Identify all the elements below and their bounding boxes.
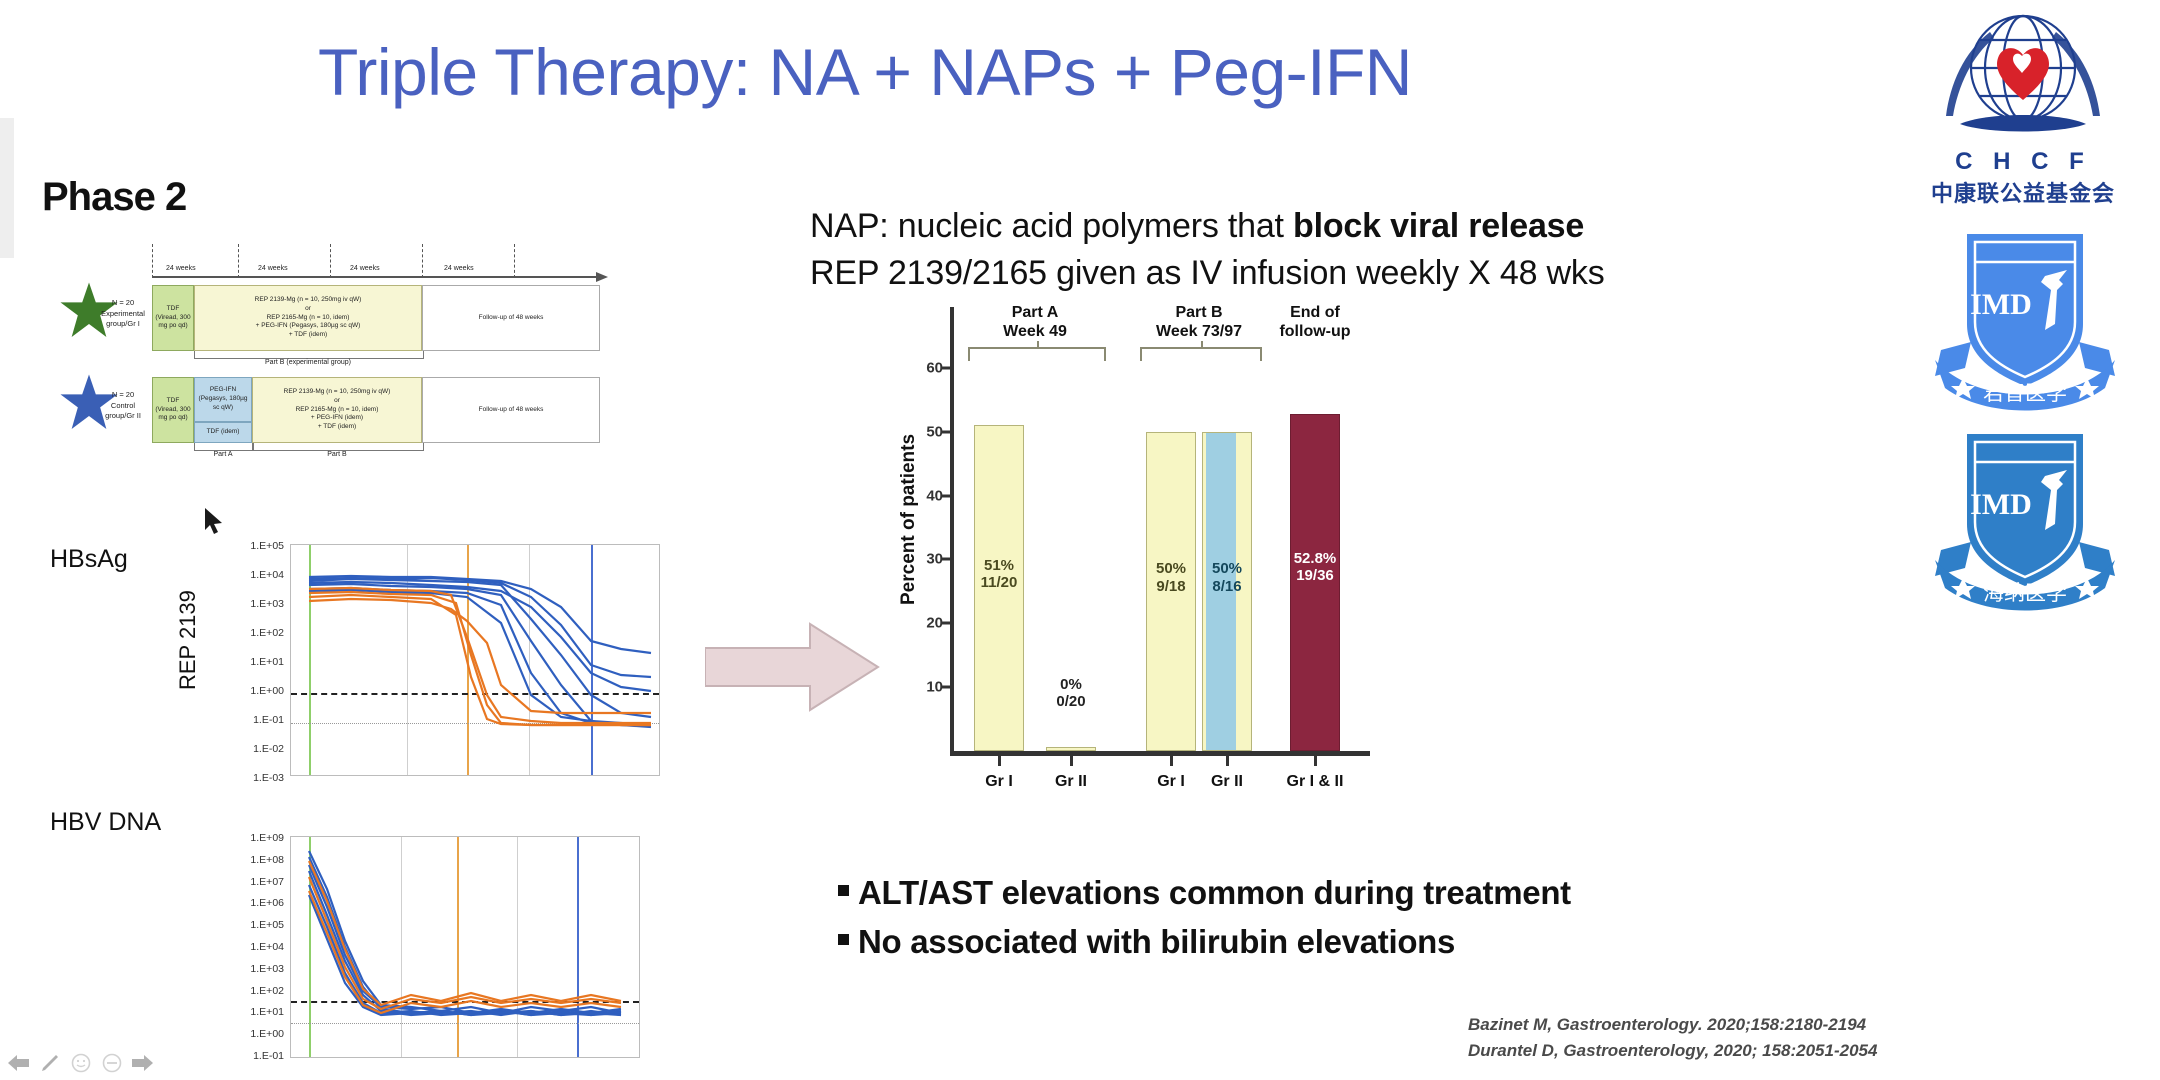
nap-description-line2: REP 2139/2165 given as IV infusion weekl… (810, 252, 1870, 296)
brace-nub (1201, 341, 1203, 349)
bar-xtick-mark (1226, 756, 1229, 766)
phase-label: Phase 2 (42, 175, 186, 220)
bar-xtick-mark (998, 756, 1001, 766)
timeline-tick (238, 244, 239, 278)
bar-4: 52.8%19/36 (1290, 414, 1340, 751)
timeline-tick (152, 244, 153, 278)
hbvdna-ytick: 1.E+03 (200, 964, 284, 975)
group1-label: N = 20 Experimental group/Gr I (94, 298, 152, 330)
bar-label: 50%8/16 (1203, 560, 1251, 595)
bullet-item: ALT/AST elevations common during treatme… (838, 872, 1798, 915)
hbsag-ytick: 1.E+01 (200, 657, 284, 668)
hbvdna-ytick: 1.E+09 (200, 833, 284, 844)
hbsag-ytick: 1.E-01 (200, 715, 284, 726)
page-title: Triple Therapy: NA + NAPs + Peg-IFN (0, 38, 1730, 107)
bar-ytick-mark (941, 430, 950, 433)
timeline-tick (330, 244, 331, 278)
group-caption-line2: Week 73/97 (1140, 322, 1258, 341)
group2-parta-peg-box: PEG-IFN (Pegasys, 180µg sc qW) (194, 377, 252, 422)
bar-fraction-label: 8/16 (1203, 578, 1251, 595)
group-caption-line2: follow-up (1276, 322, 1354, 341)
bar-ytick-mark (941, 622, 950, 625)
hbvdna-ytick: 1.E+02 (200, 986, 284, 997)
hbsag-ytick: 1.E+04 (200, 570, 284, 581)
hbvdna-ytick: 1.E+00 (200, 1029, 284, 1040)
timeline-tick (422, 244, 423, 278)
bar-ytick-mark (941, 494, 950, 497)
nap-desc-plain: NAP: nucleic acid polymers that (810, 207, 1293, 245)
imd-shield-icon-bottom: IMD 海纳医学 (1905, 428, 2145, 613)
bar-xtick-mark (1070, 756, 1073, 766)
bar-fraction-label: 9/18 (1147, 578, 1195, 595)
group2-leadin-box: TDF (Viread, 300 mg po qd) (152, 377, 194, 443)
prev-slide-button[interactable] (8, 1052, 30, 1074)
hbvdna-ytick: 1.E+05 (200, 920, 284, 931)
bar-chart-ylabel: Percent of patients (898, 434, 920, 605)
next-slide-button[interactable] (132, 1052, 154, 1074)
bar-value-label: 0% (1047, 676, 1095, 693)
chcf-chinese-name: 中康联公益基金会 (1898, 176, 2148, 208)
bar-group-caption: Part AWeek 49 (968, 303, 1102, 341)
duration-label: 24 weeks (350, 265, 380, 272)
duration-label: 24 weeks (444, 265, 474, 272)
svg-text:IMD: IMD (1970, 488, 2032, 521)
slide-toolbar[interactable] (8, 1052, 154, 1074)
bar-label: 51%11/20 (975, 557, 1023, 592)
bar-2: 50%9/18 (1146, 432, 1196, 751)
bar-ytick-mark (941, 366, 950, 369)
findings-bullet-list: ALT/AST elevations common during treatme… (838, 872, 1798, 970)
chcf-letters: C H C F (1898, 148, 2148, 176)
group2-treatment-box: REP 2139-Mg (n = 10, 250mg iv qW) or REP… (252, 377, 422, 443)
group1-leadin-box: TDF (Viread, 300 mg po qd) (152, 285, 194, 351)
hbsag-loss-bar-chart: Percent of patients 102030405060 51%11/2… (950, 355, 1370, 655)
hbvdna-plot-area (290, 836, 640, 1058)
duration-label: 24 weeks (258, 265, 288, 272)
left-edge-strip (0, 118, 14, 258)
bar-chart-xaxis (950, 751, 1370, 756)
bar-xtick-mark (1314, 756, 1317, 766)
imd-logo-bottom: IMD 海纳医学 (1905, 428, 2145, 618)
timeline-arrowhead-icon (596, 271, 610, 283)
hbvdna-ytick: 1.E+06 (200, 898, 284, 909)
presentation-slide: Triple Therapy: NA + NAPs + Peg-IFN Phas… (0, 0, 2160, 1080)
hbvdna-line-chart: 1.E+091.E+081.E+071.E+061.E+051.E+041.E+… (200, 832, 670, 1080)
hbsag-ytick: 1.E-02 (200, 744, 284, 755)
citation-block: Bazinet M, Gastroenterology. 2020;158:21… (1468, 1012, 1877, 1063)
mouse-cursor-icon (205, 508, 225, 536)
hbsag-series-lines (291, 545, 661, 777)
hbsag-ytick: 1.E+03 (200, 599, 284, 610)
bar-3: 50%8/16 (1202, 432, 1252, 751)
bar-xtick-mark (1170, 756, 1173, 766)
pen-tool-button[interactable] (39, 1052, 61, 1074)
bar-label: 0%0/20 (1047, 676, 1095, 711)
group1-treatment-box: REP 2139-Mg (n = 10, 250mg iv qW) or REP… (194, 285, 422, 351)
bullet-text: ALT/AST elevations common during treatme… (858, 872, 1571, 915)
hbvdna-ytick: 1.E+04 (200, 942, 284, 953)
flow-arrow-icon (705, 620, 880, 720)
hbvdna-ytick: 1.E-01 (200, 1051, 284, 1062)
bullet-item: No associated with bilirubin elevations (838, 921, 1798, 964)
bar-value-label: 51% (975, 557, 1023, 574)
bar-ytick-mark (941, 686, 950, 689)
nap-desc-bold: block viral release (1293, 207, 1584, 245)
study-design-diagram: 24 weeks 24 weeks 24 weeks 24 weeks N = … (48, 238, 708, 398)
group2-parta-brace (194, 443, 254, 451)
citation-line-2: Durantel D, Gastroenterology, 2020; 158:… (1468, 1038, 1877, 1064)
bar-label: 52.8%19/36 (1291, 550, 1339, 585)
hbvdna-ytick: 1.E+07 (200, 877, 284, 888)
bar-fraction-label: 11/20 (975, 574, 1023, 591)
svg-text:IMD: IMD (1970, 288, 2032, 321)
bar-value-label: 52.8% (1291, 550, 1339, 567)
bullet-square-icon (838, 885, 849, 896)
bar-category-label: Gr II (1192, 773, 1262, 791)
group2-parta-tdf-box: TDF (idem) (194, 422, 252, 443)
hbvdna-series-lines (291, 837, 641, 1059)
hbsag-line-chart: 1.E+051.E+041.E+031.E+021.E+011.E+001.E-… (200, 540, 670, 790)
bar-group-caption: End offollow-up (1276, 303, 1354, 341)
group2-parta-caption: Part A (194, 451, 252, 458)
bar-value-label: 50% (1203, 560, 1251, 577)
group1-followup-box: Follow-up of 48 weeks (422, 285, 600, 351)
bar-group-caption: Part BWeek 73/97 (1140, 303, 1258, 341)
bar-label: 50%9/18 (1147, 560, 1195, 595)
group2-followup-box: Follow-up of 48 weeks (422, 377, 600, 443)
bar-1: 0%0/20 (1046, 747, 1096, 751)
hbvdna-panel-label: HBV DNA (50, 808, 161, 837)
hbsag-plot-area (290, 544, 660, 776)
imd-bottom-chinese: 海纳医学 (1983, 582, 2067, 605)
hbsag-ytick: 1.E+00 (200, 686, 284, 697)
bar-group-brace (1140, 347, 1262, 361)
group1-partb-brace (194, 351, 424, 359)
bar-0: 51%11/20 (974, 425, 1024, 751)
group2-label: N = 20 Control group/Gr II (94, 390, 152, 422)
brace-nub (1037, 341, 1039, 349)
timeline-axis (152, 276, 600, 278)
hbsag-ytick: 1.E-03 (200, 773, 284, 784)
bar-category-label: Gr I (964, 773, 1034, 791)
hbsag-ytick: 1.E+02 (200, 628, 284, 639)
hbvdna-ytick: 1.E+08 (200, 855, 284, 866)
bar-fraction-label: 0/20 (1047, 693, 1095, 710)
hbvdna-ytick: 1.E+01 (200, 1007, 284, 1018)
group-caption-line1: End of (1276, 303, 1354, 322)
hbsag-ytick: 1.E+05 (200, 541, 284, 552)
group-caption-line2: Week 49 (968, 322, 1102, 341)
imd-shield-icon-top: IMD 君智医学 (1905, 228, 2145, 413)
bar-value-label: 50% (1147, 560, 1195, 577)
bar-chart-yaxis (950, 307, 954, 755)
bar-group-brace (968, 347, 1106, 361)
timeline-tick (514, 244, 515, 278)
zoom-out-button[interactable] (101, 1052, 123, 1074)
bar-ytick-mark (941, 558, 950, 561)
imd-logo-top: IMD 君智医学 (1905, 228, 2145, 418)
citation-line-1: Bazinet M, Gastroenterology. 2020;158:21… (1468, 1012, 1877, 1038)
chcf-emblem-icon (1898, 8, 2148, 143)
group1-partb-caption: Part B (experimental group) (194, 359, 422, 366)
bullet-text: No associated with bilirubin elevations (858, 921, 1455, 964)
hbsag-panel-label: HBsAg (50, 545, 128, 574)
menu-button[interactable] (70, 1052, 92, 1074)
rep2139-axis-label: REP 2139 (175, 590, 201, 690)
group-caption-line1: Part A (968, 303, 1102, 322)
bar-fraction-label: 19/36 (1291, 567, 1339, 584)
group2-partb-caption: Part B (252, 451, 422, 458)
bullet-square-icon (838, 934, 849, 945)
duration-label: 24 weeks (166, 265, 196, 272)
nap-description-line1: NAP: nucleic acid polymers that block vi… (810, 205, 1810, 249)
group-caption-line1: Part B (1140, 303, 1258, 322)
group2-partb-brace (252, 443, 424, 451)
bar-category-label: Gr II (1036, 773, 1106, 791)
bar-category-label: Gr I & II (1280, 773, 1350, 791)
chcf-logo: C H C F 中康联公益基金会 (1898, 8, 2148, 208)
imd-top-chinese: 君智医学 (1983, 382, 2067, 405)
